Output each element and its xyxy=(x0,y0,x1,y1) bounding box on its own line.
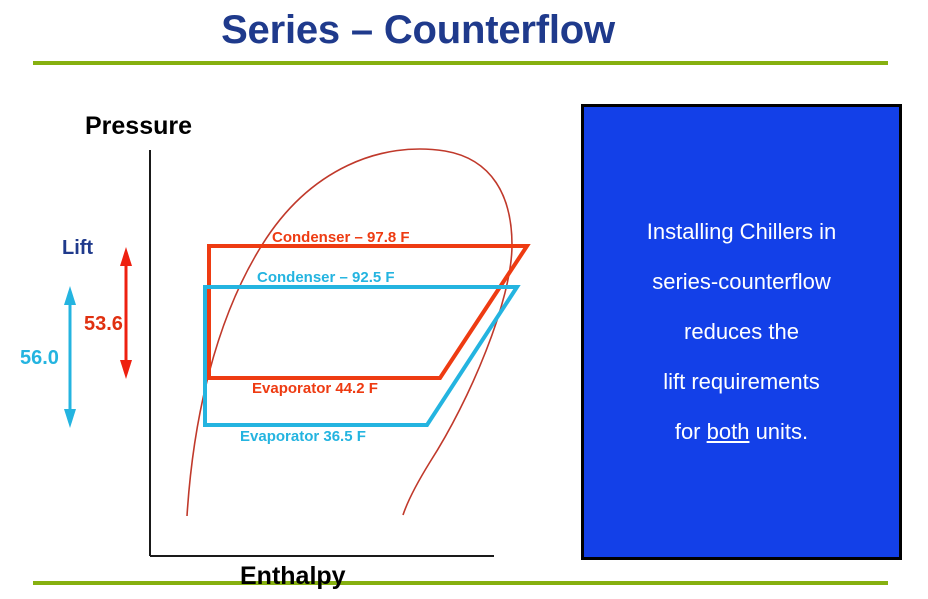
lift-value-cyan: 56.0 xyxy=(20,347,59,370)
lift-label: Lift xyxy=(62,237,93,260)
diagram-svg xyxy=(0,0,570,599)
pressure-enthalpy-diagram: Pressure Enthalpy Lift 53.6 56.0 Condens… xyxy=(0,0,570,599)
lower-chiller-cycle-shape xyxy=(205,287,517,425)
callout-line-5-post: units. xyxy=(749,419,808,444)
callout-line-2: series-counterflow xyxy=(652,270,831,294)
condenser-upper-label: Condenser – 97.8 F xyxy=(272,229,410,246)
callout-line-5: for both units. xyxy=(675,420,808,444)
callout-line-5-pre: for xyxy=(675,419,707,444)
callout-line-4: lift requirements xyxy=(663,370,820,394)
x-axis-label: Enthalpy xyxy=(240,562,346,591)
callout-line-1: Installing Chillers in xyxy=(647,220,837,244)
chart-axes xyxy=(150,150,494,556)
callout-emphasis-both: both xyxy=(707,419,750,444)
saturation-dome-curve xyxy=(187,149,512,516)
callout-box: Installing Chillers in series-counterflo… xyxy=(581,104,902,560)
evaporator-lower-label: Evaporator 36.5 F xyxy=(240,428,366,445)
slide-root: Series – Counterflow xyxy=(0,0,928,599)
lift-arrow-cyan xyxy=(64,286,76,428)
evaporator-upper-label: Evaporator 44.2 F xyxy=(252,380,378,397)
upper-chiller-cycle-shape xyxy=(209,246,527,378)
lift-value-red: 53.6 xyxy=(84,313,123,336)
callout-line-3: reduces the xyxy=(684,320,799,344)
condenser-lower-label: Condenser – 92.5 F xyxy=(257,269,395,286)
y-axis-label: Pressure xyxy=(85,112,192,141)
